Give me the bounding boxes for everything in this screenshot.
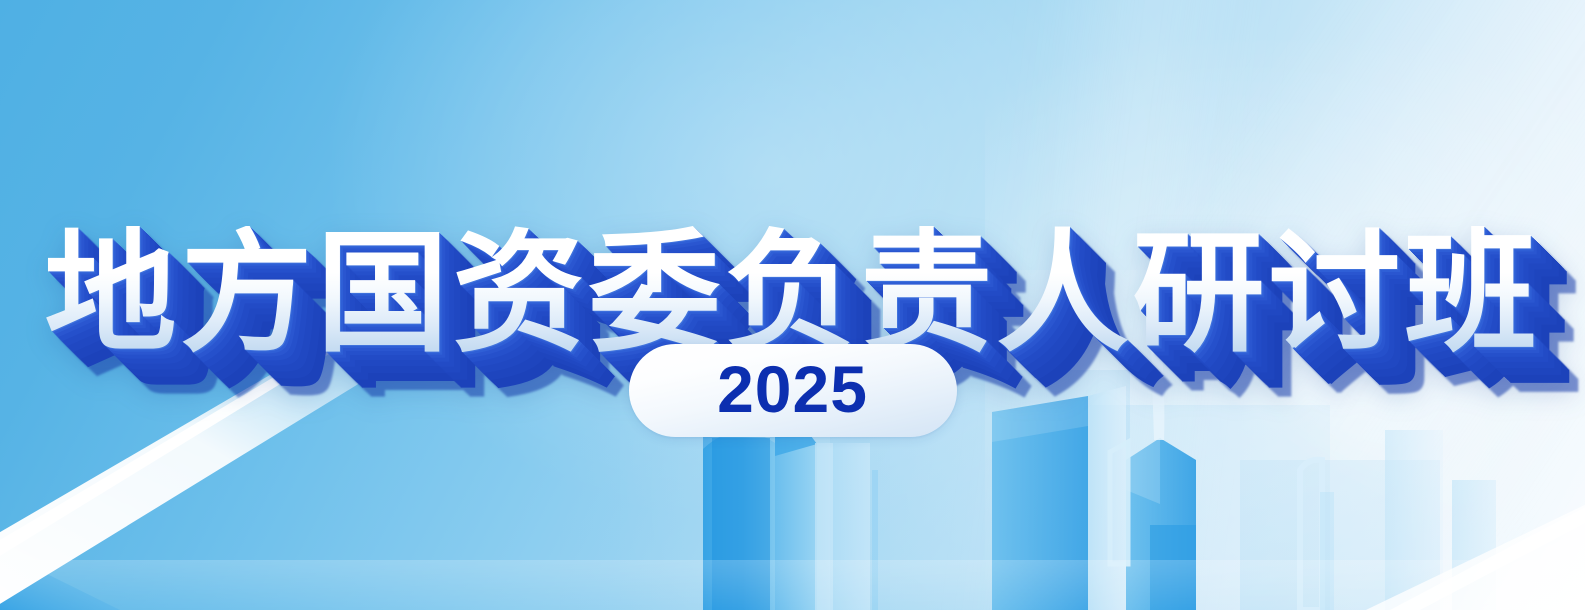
year-label: 2025 [717, 356, 868, 422]
event-banner: 地方国资委负责人研讨班 2025 [0, 0, 1585, 610]
year-container: 2025 [0, 344, 1585, 437]
year-badge: 2025 [629, 344, 957, 437]
